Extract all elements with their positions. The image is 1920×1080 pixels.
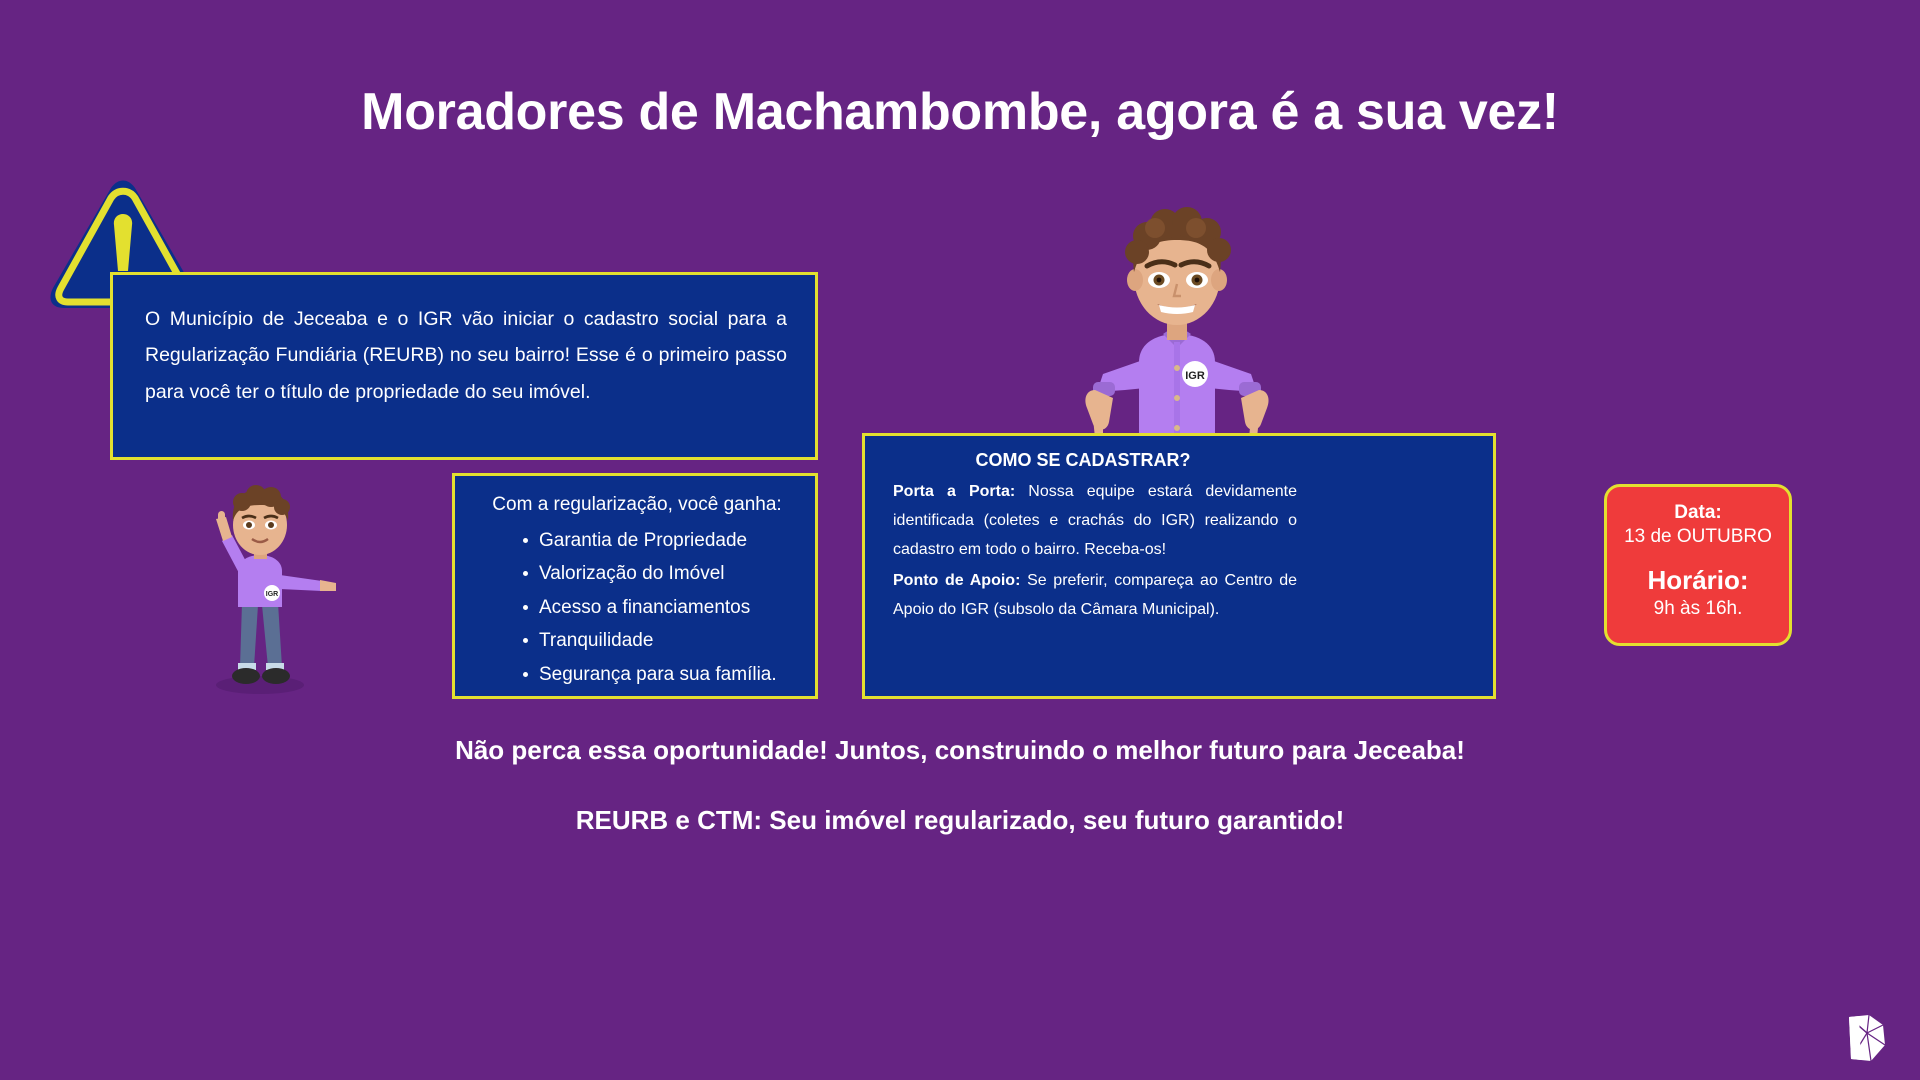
footer-line-1: Não perca essa oportunidade! Juntos, con…	[0, 735, 1920, 766]
date-value: 13 de OUTUBRO	[1607, 525, 1789, 550]
benefits-list: Garantia de Propriedade Valorização do I…	[479, 524, 795, 691]
time-label: Horário:	[1607, 565, 1789, 596]
avatar-badge-label-small: IGR	[266, 591, 278, 598]
howto-item-label: Porta a Porta:	[893, 483, 1015, 500]
howto-item: Porta a Porta: Nossa equipe estará devid…	[893, 477, 1297, 564]
benefits-panel: Com a regularização, você ganha: Garanti…	[452, 473, 818, 699]
list-item: Garantia de Propriedade	[523, 524, 795, 557]
benefits-lead: Com a regularização, você ganha:	[479, 494, 795, 516]
howto-title: COMO SE CADASTRAR?	[893, 450, 1473, 471]
list-item: Acesso a financiamentos	[523, 591, 795, 624]
list-item: Segurança para sua família.	[523, 658, 795, 691]
avatar-pointing-down-illustration: IGR	[1063, 192, 1291, 444]
time-value: 9h às 16h.	[1607, 597, 1789, 622]
poster-canvas: Moradores de Machambombe, agora é a sua …	[0, 0, 1920, 1080]
list-item: Tranquilidade	[523, 624, 795, 657]
howto-item-label: Ponto de Apoio:	[893, 572, 1020, 589]
footer-line-2: REURB e CTM: Seu imóvel regularizado, se…	[0, 805, 1920, 836]
avatar-badge-label-main: IGR	[1185, 370, 1205, 382]
page-title: Moradores de Machambombe, agora é a sua …	[0, 84, 1920, 141]
list-item: Valorização do Imóvel	[523, 557, 795, 590]
howto-panel: COMO SE CADASTRAR? Porta a Porta: Nossa …	[862, 433, 1496, 699]
howto-body: Porta a Porta: Nossa equipe estará devid…	[893, 477, 1297, 625]
avatar-pointing-illustration: IGR	[176, 475, 344, 695]
intro-text: O Município de Jeceaba e o IGR vão inici…	[145, 301, 787, 410]
intro-panel: O Município de Jeceaba e o IGR vão inici…	[110, 272, 818, 460]
date-time-card: Data: 13 de OUTUBRO Horário: 9h às 16h.	[1604, 484, 1792, 646]
gem-logo-icon	[1843, 1013, 1887, 1063]
howto-item: Ponto de Apoio: Se preferir, compareça a…	[893, 566, 1297, 624]
date-label: Data:	[1607, 501, 1789, 525]
